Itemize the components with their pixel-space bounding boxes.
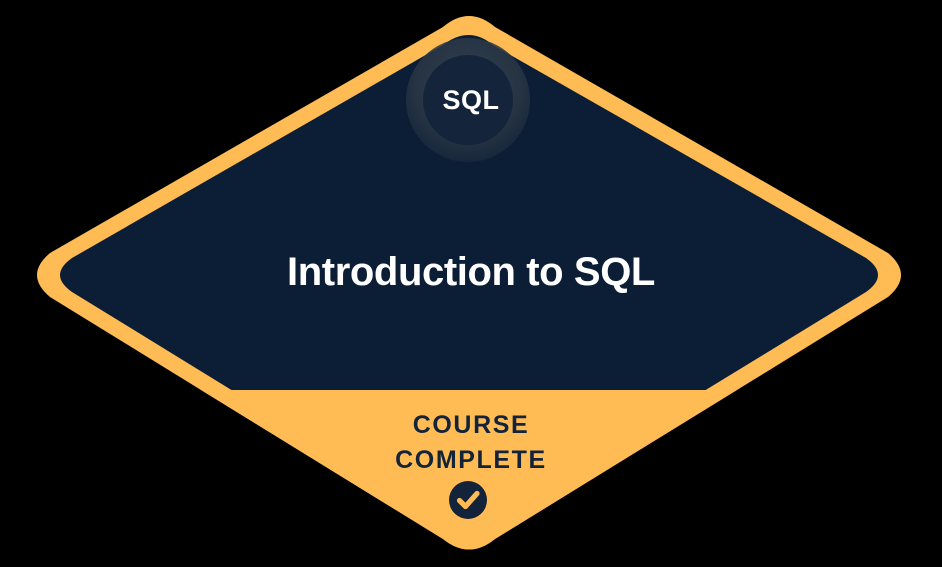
certificate-badge-canvas: SQL Introduction to SQL COURSE COMPLETE xyxy=(0,0,942,567)
check-circle-icon xyxy=(449,481,487,519)
sql-technology-chip[interactable] xyxy=(406,38,530,162)
sql-chip-inner-disc xyxy=(423,55,513,145)
course-completion-badge[interactable] xyxy=(0,0,942,567)
badge-status-panel xyxy=(0,390,942,567)
